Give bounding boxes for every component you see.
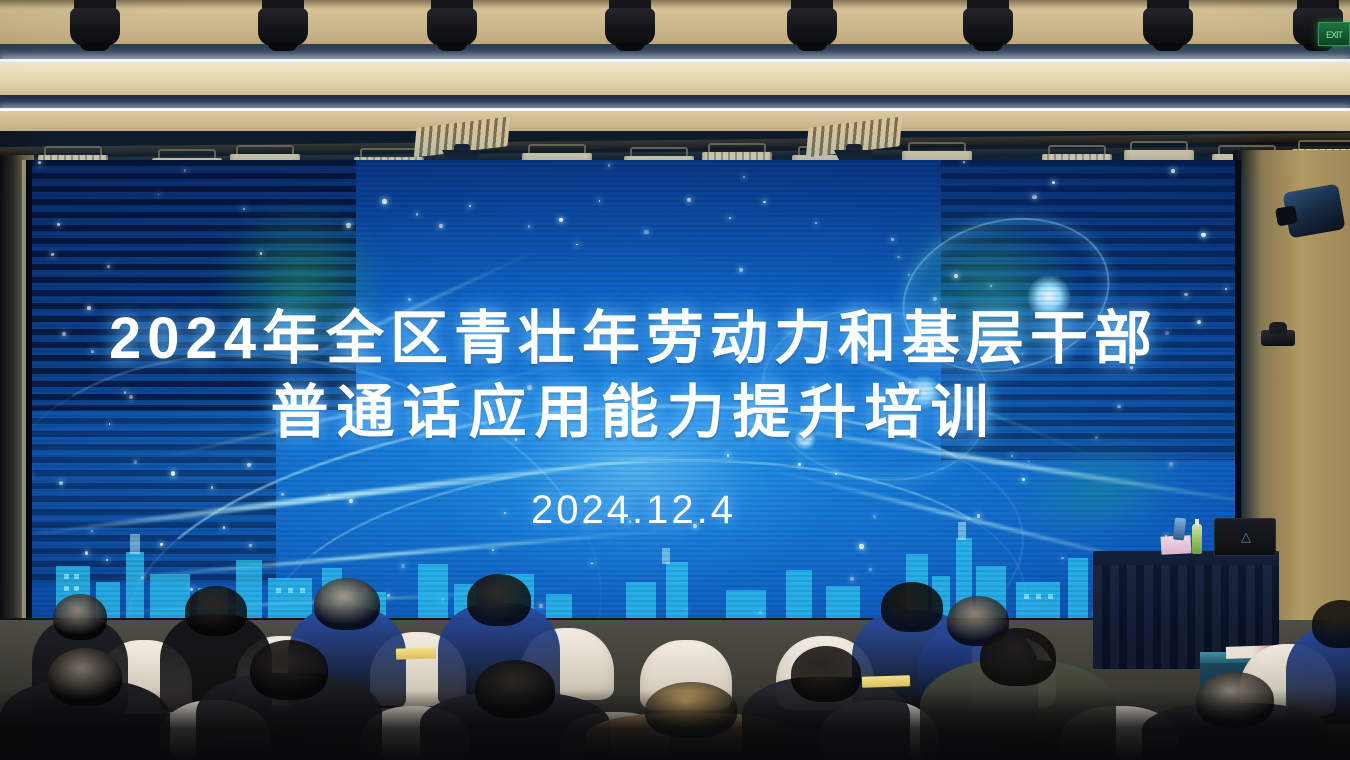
exit-sign-label: EXIT [1322, 26, 1346, 42]
screen-date: 2024.12.4 [531, 488, 736, 533]
ceiling-warm-panel-1 [0, 63, 1350, 97]
notebook-1 [862, 675, 910, 688]
person-head [980, 628, 1056, 686]
person-head [53, 594, 107, 640]
moving-head-light-1 [64, 0, 126, 48]
ceiling-warm-panel-2 [0, 111, 1350, 133]
exit-sign: EXIT [1318, 22, 1350, 46]
moving-head-light-7 [1137, 0, 1199, 48]
phone-on-stand [1173, 517, 1186, 540]
wall-speaker-icon [1261, 330, 1295, 346]
moving-head-light-4 [599, 0, 661, 48]
moving-head-light-5 [781, 0, 843, 48]
person-head [1312, 600, 1350, 648]
foreground-shadow [0, 690, 1350, 760]
ceiling-camera-icon [1282, 183, 1345, 238]
person-head [467, 574, 531, 626]
moving-head-light-6 [957, 0, 1019, 48]
moving-head-light-2 [252, 0, 314, 48]
person-head [314, 578, 380, 630]
conference-hall-scene: EXIT [0, 0, 1350, 760]
moving-head-light-3 [421, 0, 483, 48]
screen-title-line-1: 2024年全区青壮年劳动力和基层干部 [109, 302, 1158, 376]
person-head [185, 586, 247, 636]
notebook-2 [396, 647, 436, 659]
screen-title-line-2: 普通话应用能力提升培训 [270, 376, 996, 450]
